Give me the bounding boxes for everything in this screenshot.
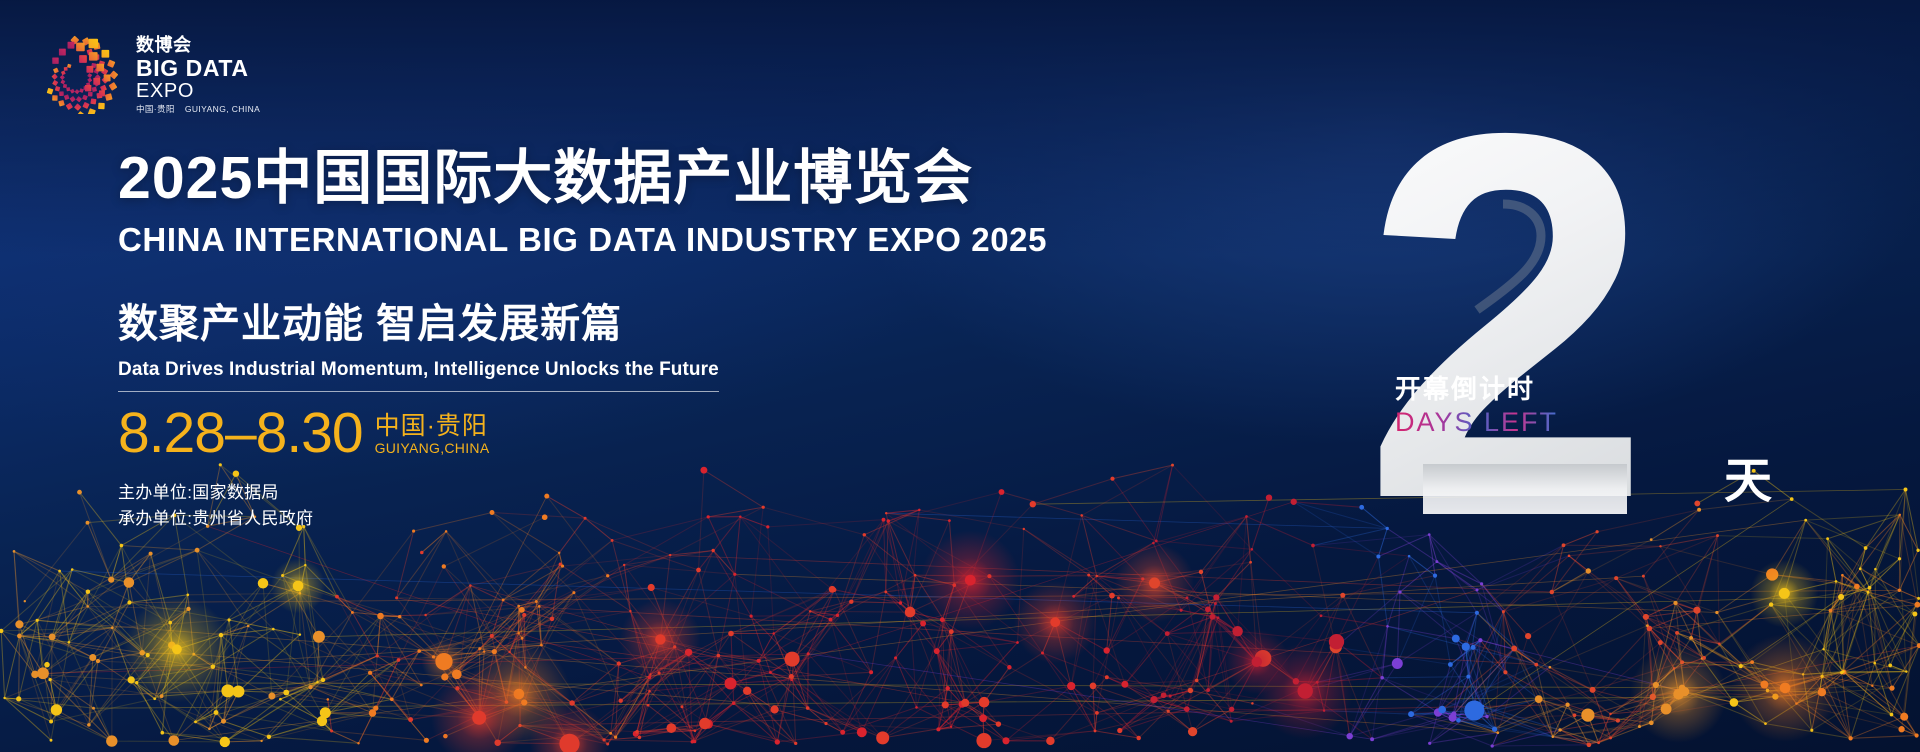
countdown-label-en: DAYS LEFT	[1395, 407, 1558, 438]
event-dates: 8.28–8.30	[118, 406, 363, 460]
countdown-unit: 天	[1724, 458, 1772, 506]
organizer-host: 主办单位:国家数据局	[118, 480, 1047, 506]
countdown-number-glyph: 2	[1362, 96, 1651, 536]
title-english: CHINA INTERNATIONAL BIG DATA INDUSTRY EX…	[118, 222, 1047, 258]
logo-location-en: GUIYANG, CHINA	[185, 104, 260, 114]
countdown-number: 2	[1327, 96, 1687, 536]
logo-name-en-line1: BIG DATA	[136, 57, 260, 80]
expo-poster: 数博会 BIG DATA EXPO 中国·贵阳GUIYANG, CHINA 20…	[0, 0, 1920, 752]
title-chinese: 2025中国国际大数据产业博览会	[118, 148, 1047, 210]
organizer-list: 主办单位:国家数据局 承办单位:贵州省人民政府	[118, 480, 1047, 531]
logo-location: 中国·贵阳GUIYANG, CHINA	[136, 105, 260, 114]
headline-block: 2025中国国际大数据产业博览会 CHINA INTERNATIONAL BIG…	[118, 148, 1047, 531]
event-date-location: 8.28–8.30 中国·贵阳 GUIYANG,CHINA	[118, 406, 1047, 460]
logo-name-en-line2: EXPO	[136, 81, 260, 101]
countdown-label-cn: 开幕倒计时	[1395, 375, 1558, 404]
big-data-expo-spiral-logo-icon	[40, 28, 126, 114]
event-place-en: GUIYANG,CHINA	[375, 441, 490, 456]
logo-location-cn: 中国·贵阳	[136, 104, 175, 114]
logo-wordmark: 数博会 BIG DATA EXPO 中国·贵阳GUIYANG, CHINA	[136, 28, 260, 114]
expo-logo[interactable]: 数博会 BIG DATA EXPO 中国·贵阳GUIYANG, CHINA	[40, 28, 260, 114]
event-place: 中国·贵阳 GUIYANG,CHINA	[375, 413, 490, 461]
event-place-cn: 中国·贵阳	[375, 413, 490, 439]
countdown-label-block: 开幕倒计时 DAYS LEFT	[1395, 375, 1558, 438]
organizer-sponsor: 承办单位:贵州省人民政府	[118, 506, 1047, 532]
slogan-chinese: 数聚产业动能 智启发展新篇	[118, 302, 1047, 346]
slogan-english: Data Drives Industrial Momentum, Intelli…	[118, 359, 719, 392]
logo-name-cn: 数博会	[136, 36, 260, 54]
